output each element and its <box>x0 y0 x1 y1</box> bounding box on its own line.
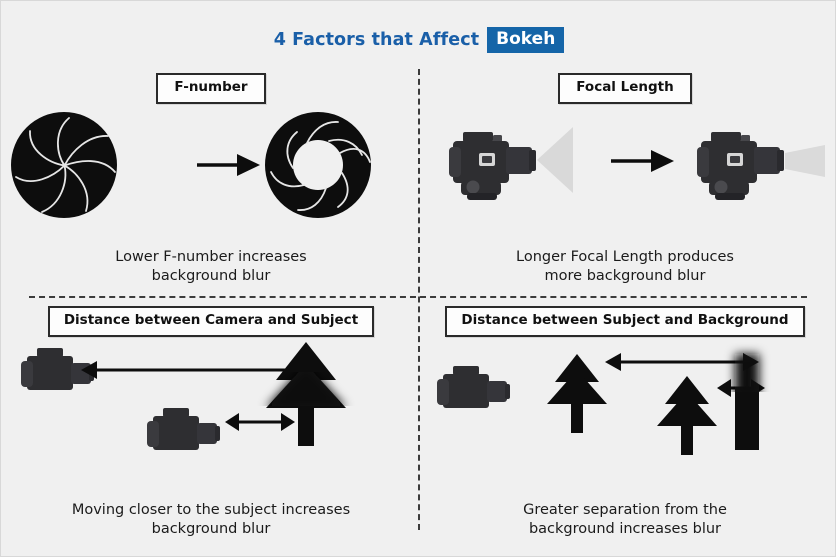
caption-line-2: background blur <box>152 268 271 284</box>
quadrant-caption-camera-subject-distance: Moving closer to the subject increases b… <box>11 501 411 540</box>
fnumber-illustration <box>11 105 411 225</box>
aperture-closed-icon <box>11 112 117 218</box>
camera-near-icon <box>147 408 220 450</box>
bokeh-badge: Bokeh <box>487 27 564 53</box>
focal-length-svg <box>425 109 825 224</box>
arrow-right-icon <box>197 154 260 176</box>
quadrant-caption-fnumber: Lower F-number increases background blur <box>11 248 411 287</box>
pine-tree-blurred-icon <box>266 342 346 446</box>
caption-line-2: background blur <box>152 521 271 537</box>
fnumber-svg <box>11 105 411 225</box>
quadrant-label-focal-length: Focal Length <box>558 73 692 104</box>
subject-background-svg <box>425 340 825 465</box>
camera-wide-cone-icon <box>449 127 573 200</box>
page-title-text: 4 Factors that Affect <box>274 30 479 50</box>
caption-line-2: background increases blur <box>529 521 721 537</box>
pine-tree-sharp-icon <box>547 354 607 433</box>
camera-subject-svg <box>11 340 411 465</box>
quadrant-caption-focal-length: Longer Focal Length produces more backgr… <box>425 248 825 287</box>
quadrant-label-camera-subject-distance: Distance between Camera and Subject <box>48 306 374 337</box>
infographic-canvas: 4 Factors that AffectBokeh F-number <box>0 0 836 557</box>
double-arrow-short-icon <box>225 413 295 431</box>
caption-line-1: Longer Focal Length produces <box>516 249 734 265</box>
arrow-right-icon <box>611 150 674 172</box>
quadrant-subject-background-distance: Distance between Subject and Background <box>425 306 825 546</box>
quadrant-label-fnumber: F-number <box>156 73 265 104</box>
camera-narrow-cone-icon <box>697 132 827 200</box>
quadrant-focal-length: Focal Length <box>425 73 825 293</box>
caption-line-1: Lower F-number increases <box>115 249 307 265</box>
caption-line-2: more background blur <box>545 268 706 284</box>
quadrant-caption-subject-background-distance: Greater separation from the background i… <box>425 501 825 540</box>
pine-tree-sharp-icon <box>657 376 717 455</box>
quadrant-label-subject-background-distance: Distance between Subject and Background <box>445 306 804 337</box>
background-bar-blurred-icon <box>735 354 759 450</box>
camera-subject-illustration <box>11 340 411 465</box>
caption-line-1: Moving closer to the subject increases <box>72 502 350 518</box>
quadrant-camera-subject-distance: Distance between Camera and Subject <box>11 306 411 546</box>
subject-background-illustration <box>425 340 825 465</box>
focal-length-illustration <box>425 109 825 224</box>
camera-icon <box>437 366 510 408</box>
aperture-open-icon <box>265 112 371 218</box>
caption-line-1: Greater separation from the <box>523 502 727 518</box>
quadrant-fnumber: F-number <box>11 73 411 293</box>
double-arrow-long-icon <box>81 361 307 379</box>
vertical-divider <box>418 69 420 530</box>
page-title: 4 Factors that AffectBokeh <box>1 27 836 53</box>
